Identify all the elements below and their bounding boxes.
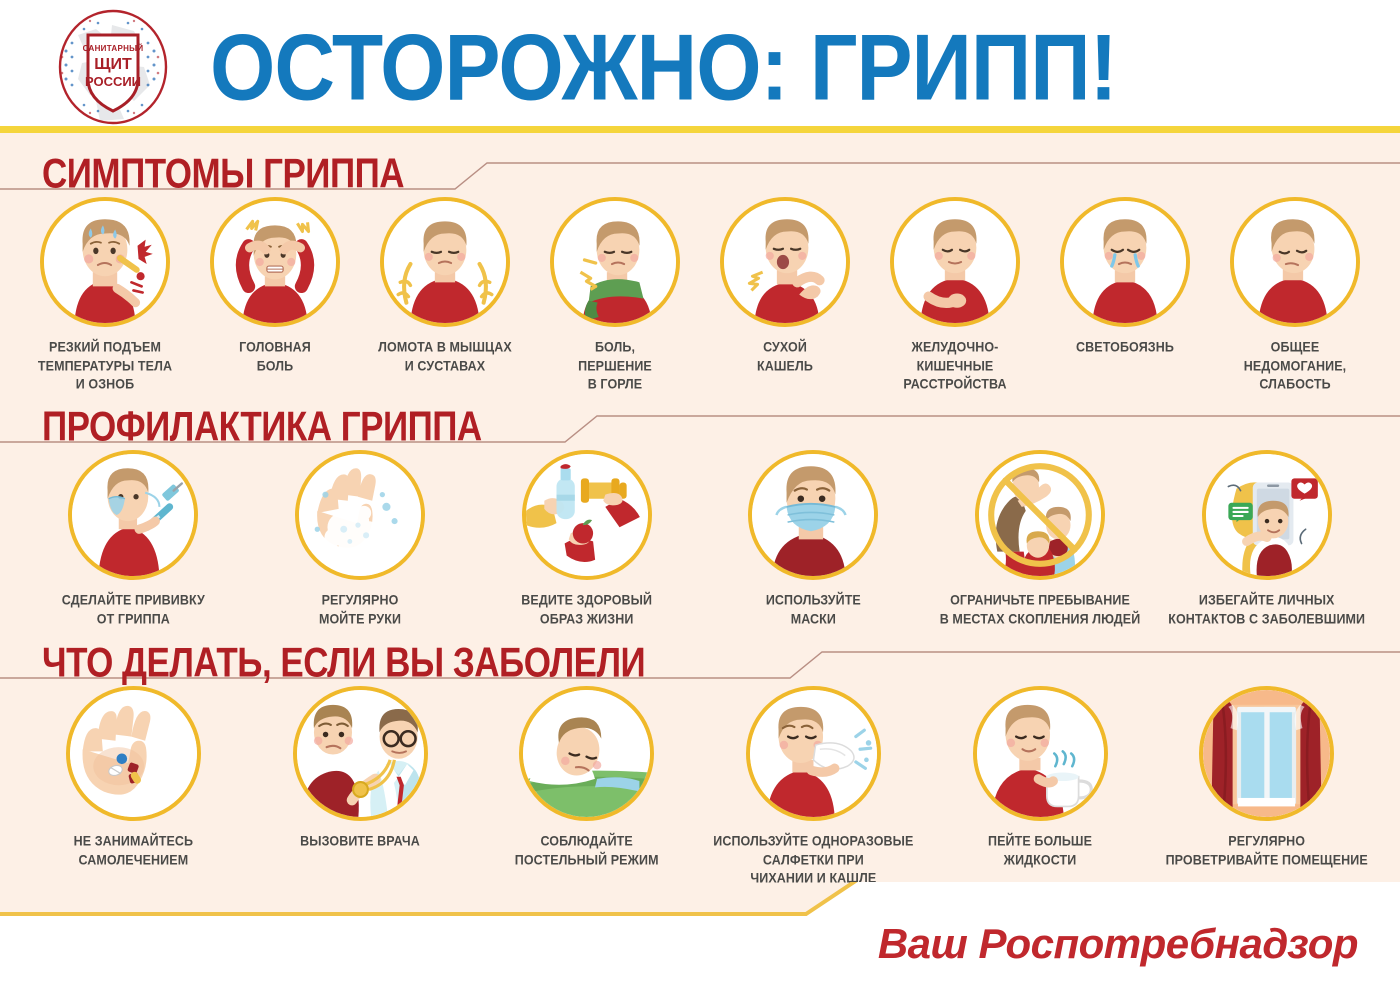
prevention-item: ОГРАНИЧЬТЕ ПРЕБЫВАНИЕ В МЕСТАХ СКОПЛЕНИЯ… (927, 450, 1154, 624)
prevention-item: РЕГУЛЯРНО МОЙТЕ РУКИ (247, 450, 474, 624)
if-ill-caption: НЕ ЗАНИМАЙТЕСЬ САМОЛЕЧЕНИЕМ (74, 832, 194, 869)
if-ill-item: ВЫЗОВИТЕ ВРАЧА (247, 686, 474, 849)
prevention-item: ИЗБЕГАЙТЕ ЛИЧНЫХ КОНТАКТОВ С ЗАБОЛЕВШИМИ (1153, 450, 1380, 624)
if-ill-item: ИСПОЛЬЗУЙТЕ ОДНОРАЗОВЫЕ САЛФЕТКИ ПРИ ЧИХ… (700, 686, 927, 882)
symptom-item: ОБЩЕЕ НЕДОМОГАНИЕ, СЛАБОСТЬ (1210, 197, 1380, 388)
symptom-item: РЕЗКИЙ ПОДЪЕМ ТЕМПЕРАТУРЫ ТЕЛА И ОЗНОБ (20, 197, 190, 388)
if-ill-caption: ИСПОЛЬЗУЙТЕ ОДНОРАЗОВЫЕ САЛФЕТКИ ПРИ ЧИХ… (713, 832, 913, 888)
symptom-item: БОЛЬ, ПЕРШЕНИЕ В ГОРЛЕ (530, 197, 700, 388)
prevention-item: ИСПОЛЬЗУЙТЕ МАСКИ (700, 450, 927, 624)
page-title: ОСТОРОЖНО: ГРИПП! (210, 19, 1117, 113)
prevention-caption: ИСПОЛЬЗУЙТЕ МАСКИ (766, 591, 861, 628)
symptom-caption: СВЕТОБОЯЗНЬ (1076, 338, 1174, 357)
if-ill-caption: ПЕЙТЕ БОЛЬШЕ ЖИДКОСТИ (988, 832, 1092, 869)
healthy-lifestyle-icon (522, 450, 652, 580)
vaccination-icon (68, 450, 198, 580)
symptom-item: СВЕТОБОЯЗНЬ (1040, 197, 1210, 355)
dry-cough-icon (720, 197, 850, 327)
section-title-if-ill: ЧТО ДЕЛАТЬ, ЕСЛИ ВЫ ЗАБОЛЕЛИ (42, 640, 645, 687)
footer-brand: Ваш Роспотребнадзор (878, 920, 1358, 968)
if-ill-row: НЕ ЗАНИМАЙТЕСЬ САМОЛЕЧЕНИЕМ (0, 686, 1400, 882)
prevention-caption: ОГРАНИЧЬТЕ ПРЕБЫВАНИЕ В МЕСТАХ СКОПЛЕНИЯ… (940, 591, 1141, 628)
symptom-caption: СУХОЙ КАШЕЛЬ (757, 338, 813, 375)
poster-footer: Ваш Роспотребнадзор (0, 882, 1400, 990)
drink-fluids-icon (973, 686, 1108, 821)
symptom-item: ЛОМОТА В МЫШЦАХ И СУСТАВАХ (360, 197, 530, 371)
if-ill-item: РЕГУЛЯРНО ПРОВЕТРИВАЙТЕ ПОМЕЩЕНИЕ (1153, 686, 1380, 865)
if-ill-item: НЕ ЗАНИМАЙТЕСЬ САМОЛЕЧЕНИЕМ (20, 686, 247, 865)
if-ill-item: ПЕЙТЕ БОЛЬШЕ ЖИДКОСТИ (927, 686, 1154, 865)
no-self-medication-pills-icon (66, 686, 201, 821)
avoid-contact-video-call-icon (1202, 450, 1332, 580)
symptom-caption: БОЛЬ, ПЕРШЕНИЕ В ГОРЛЕ (578, 338, 652, 394)
prevention-caption: ИЗБЕГАЙТЕ ЛИЧНЫХ КОНТАКТОВ С ЗАБОЛЕВШИМИ (1168, 591, 1365, 628)
bed-rest-icon (519, 686, 654, 821)
section-header-symptoms: СИМПТОМЫ ГРИППА (0, 151, 1400, 197)
photophobia-icon (1060, 197, 1190, 327)
headache-icon (210, 197, 340, 327)
prevention-item: ВЕДИТЕ ЗДОРОВЫЙ ОБРАЗ ЖИЗНИ (473, 450, 700, 624)
symptom-item: ЖЕЛУДОЧНО- КИШЕЧНЫЕ РАССТРОЙСТВА (870, 197, 1040, 388)
prevention-caption: ВЕДИТЕ ЗДОРОВЫЙ ОБРАЗ ЖИЗНИ (521, 591, 652, 628)
section-header-prevention: ПРОФИЛАКТИКА ГРИППА (0, 404, 1400, 450)
poster-header: САНИТАРНЫЙ ЩИТ РОССИИ ОСТОРОЖНО: ГРИПП! (0, 0, 1400, 133)
ventilate-room-window-icon (1199, 686, 1334, 821)
muscle-joint-ache-icon (380, 197, 510, 327)
prevention-row: СДЕЛАЙТЕ ПРИВИВКУ ОТ ГРИППА (0, 450, 1400, 624)
call-doctor-icon (293, 686, 428, 821)
section-title-prevention: ПРОФИЛАКТИКА ГРИППА (42, 404, 482, 451)
section-header-if-ill: ЧТО ДЕЛАТЬ, ЕСЛИ ВЫ ЗАБОЛЕЛИ (0, 640, 1400, 686)
svg-text:РОССИИ: РОССИИ (85, 74, 141, 89)
avoid-crowds-icon (975, 450, 1105, 580)
header-accent-bar (0, 126, 1400, 133)
prevention-item: СДЕЛАЙТЕ ПРИВИВКУ ОТ ГРИППА (20, 450, 247, 624)
stomach-upset-icon (890, 197, 1020, 327)
prevention-caption: РЕГУЛЯРНО МОЙТЕ РУКИ (319, 591, 401, 628)
svg-text:САНИТАРНЫЙ: САНИТАРНЫЙ (83, 44, 144, 53)
svg-text:ЩИТ: ЩИТ (94, 56, 132, 73)
if-ill-item: СОБЛЮДАЙТЕ ПОСТЕЛЬНЫЙ РЕЖИМ (473, 686, 700, 865)
symptom-caption: ГОЛОВНАЯ БОЛЬ (239, 338, 311, 375)
wear-mask-icon (748, 450, 878, 580)
symptom-caption: ЛОМОТА В МЫШЦАХ И СУСТАВАХ (378, 338, 512, 375)
disposable-tissues-icon (746, 686, 881, 821)
prevention-caption: СДЕЛАЙТЕ ПРИВИВКУ ОТ ГРИППА (62, 591, 205, 628)
sore-throat-icon (550, 197, 680, 327)
wash-hands-icon (295, 450, 425, 580)
if-ill-caption: РЕГУЛЯРНО ПРОВЕТРИВАЙТЕ ПОМЕЩЕНИЕ (1166, 832, 1368, 869)
symptom-caption: РЕЗКИЙ ПОДЪЕМ ТЕМПЕРАТУРЫ ТЕЛА И ОЗНОБ (38, 338, 172, 394)
symptom-item: ГОЛОВНАЯ БОЛЬ (190, 197, 360, 371)
symptoms-row: РЕЗКИЙ ПОДЪЕМ ТЕМПЕРАТУРЫ ТЕЛА И ОЗНОБ (0, 197, 1400, 388)
symptom-item: СУХОЙ КАШЕЛЬ (700, 197, 870, 371)
sanitary-shield-russia-logo: САНИТАРНЫЙ ЩИТ РОССИИ (38, 7, 188, 127)
if-ill-caption: СОБЛЮДАЙТЕ ПОСТЕЛЬНЫЙ РЕЖИМ (515, 832, 659, 869)
symptom-caption: ОБЩЕЕ НЕДОМОГАНИЕ, СЛАБОСТЬ (1244, 338, 1346, 394)
general-weakness-icon (1230, 197, 1360, 327)
fever-thermometer-icon (40, 197, 170, 327)
if-ill-caption: ВЫЗОВИТЕ ВРАЧА (300, 832, 420, 851)
symptom-caption: ЖЕЛУДОЧНО- КИШЕЧНЫЕ РАССТРОЙСТВА (903, 338, 1006, 394)
section-title-symptoms: СИМПТОМЫ ГРИППА (42, 151, 404, 198)
